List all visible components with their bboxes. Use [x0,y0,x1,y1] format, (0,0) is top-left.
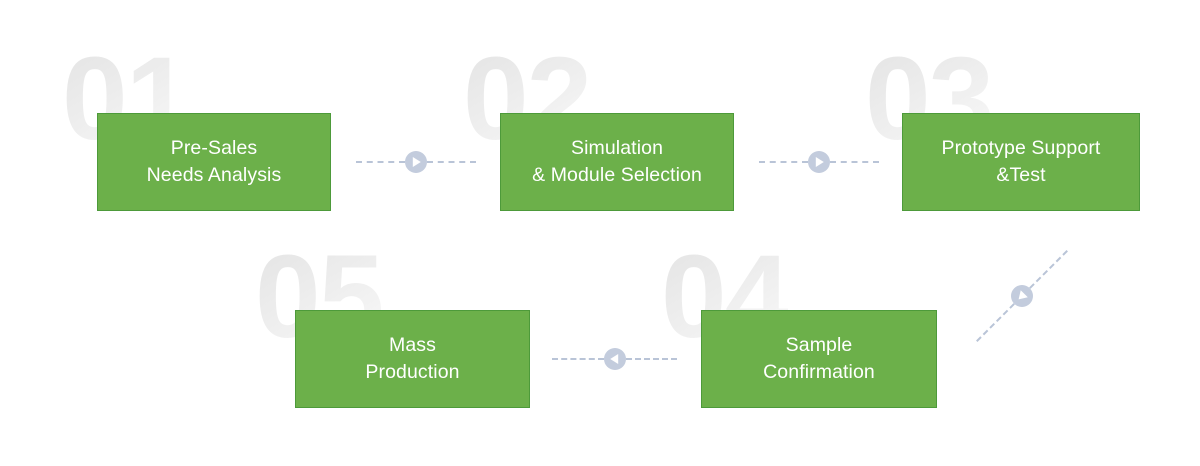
process-box-label: Simulation & Module Selection [526,135,708,189]
process-box-label: Pre-Sales Needs Analysis [141,135,288,189]
connector-line [759,161,808,163]
process-box-label: Sample Confirmation [757,332,881,386]
connector-01-to-02 [356,151,476,173]
connector-line [552,358,604,360]
connector-line [976,303,1015,342]
process-box-label: Mass Production [359,332,465,386]
process-box-mass-production[interactable]: Mass Production [295,310,530,408]
process-box-sample-confirmation[interactable]: Sample Confirmation [701,310,937,408]
connector-line [427,161,476,163]
connector-04-to-05 [552,348,677,370]
play-arrow-right-icon [405,151,427,173]
process-box-pre-sales-needs-analysis[interactable]: Pre-Sales Needs Analysis [97,113,331,211]
process-box-prototype-support-test[interactable]: Prototype Support &Test [902,113,1140,211]
connector-line [626,358,678,360]
connector-03-to-04 [969,243,1075,349]
connector-line [830,161,879,163]
connector-02-to-03 [759,151,879,173]
play-arrow-left-icon [604,348,626,370]
process-box-simulation-module-selection[interactable]: Simulation & Module Selection [500,113,734,211]
connector-line [356,161,405,163]
process-flow-diagram: 01 02 03 04 05 Pre-Sales Needs Analysis … [0,0,1200,466]
play-arrow-right-icon [808,151,830,173]
process-box-label: Prototype Support &Test [936,135,1107,189]
connector-line [1029,250,1068,289]
